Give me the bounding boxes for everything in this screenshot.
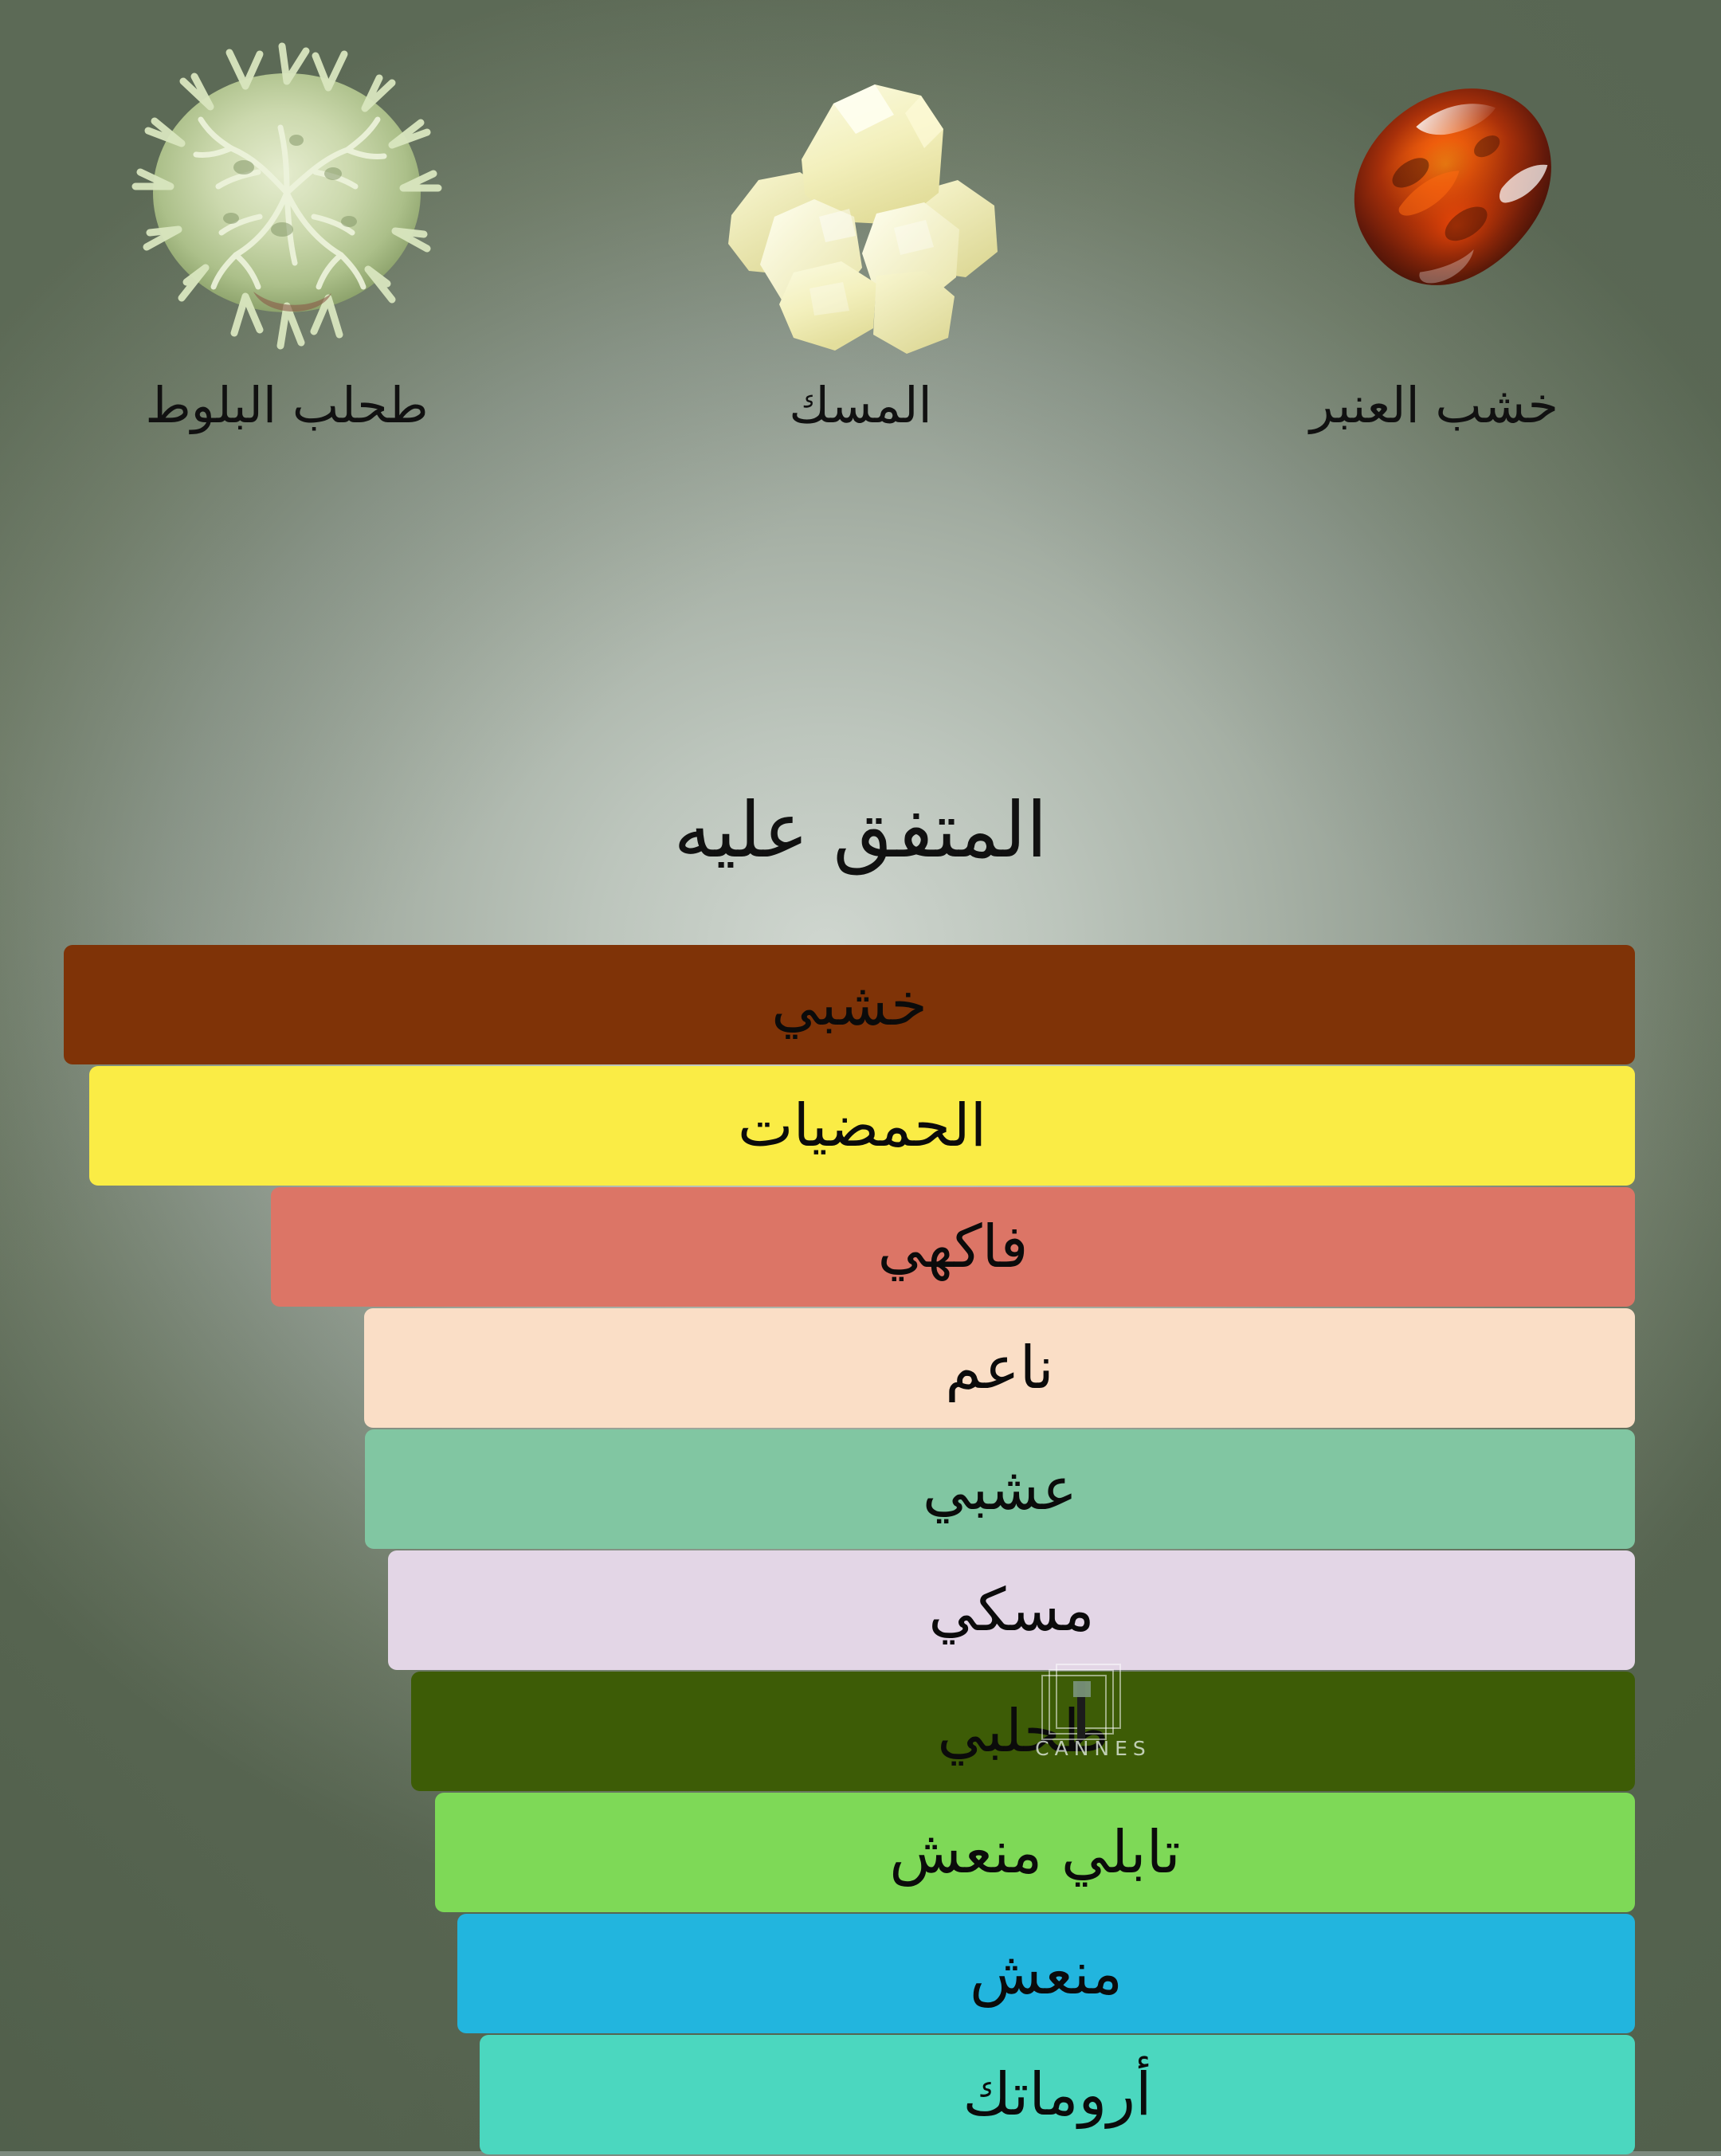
funnel-bar: الحمضيات — [89, 1066, 1635, 1186]
funnel-bar-label: مسكي — [928, 1581, 1094, 1640]
specimen-musk: المسك — [621, 0, 1100, 430]
amber-resin-stone-image — [1243, 0, 1625, 398]
funnel-bar-label: ناعم — [945, 1339, 1054, 1397]
funnel-bar: عشبي — [365, 1429, 1635, 1549]
funnel-bar-label: الحمضيات — [738, 1096, 986, 1155]
section-title: المتفق عليه — [0, 789, 1721, 873]
funnel-bar: خشبي — [64, 945, 1635, 1064]
funnel-bar: طحلبي — [411, 1672, 1635, 1791]
musk-resin-crystals-icon — [685, 8, 1036, 390]
funnel-bar: فاكهي — [271, 1187, 1635, 1307]
specimen-row: خشب العنبر — [0, 0, 1721, 558]
specimen-amber-wood: خشب العنبر — [1195, 0, 1673, 430]
slide-page: خشب العنبر — [0, 0, 1721, 2151]
specimen-oakmoss: طحلب البلوط — [48, 0, 526, 430]
funnel-bar-label: فاكهي — [878, 1217, 1029, 1276]
funnel-bar-label: طحلبي — [937, 1702, 1108, 1761]
amber-resin-stone-icon — [1259, 8, 1609, 390]
funnel-bar-label: تابلي منعش — [889, 1823, 1180, 1882]
oakmoss-lichen-icon — [112, 8, 462, 390]
funnel-bar-label: عشبي — [923, 1460, 1077, 1519]
funnel-bar-label: منعش — [970, 1944, 1123, 2003]
funnel-bar: منعش — [457, 1914, 1635, 2033]
funnel-chart: خشبيالحمضياتفاكهيناعمعشبيمسكيطحلبيتابلي … — [0, 945, 1721, 2156]
funnel-bar-label: خشبي — [771, 975, 927, 1034]
funnel-bar: ناعم — [364, 1308, 1635, 1428]
funnel-bar: أروماتك — [480, 2035, 1635, 2154]
oakmoss-lichen-image — [96, 0, 478, 398]
musk-resin-crystals-image — [669, 0, 1052, 398]
funnel-bar: تابلي منعش — [435, 1793, 1635, 1912]
funnel-bar-label: أروماتك — [962, 2065, 1151, 2124]
funnel-bar: مسكي — [388, 1550, 1635, 1670]
